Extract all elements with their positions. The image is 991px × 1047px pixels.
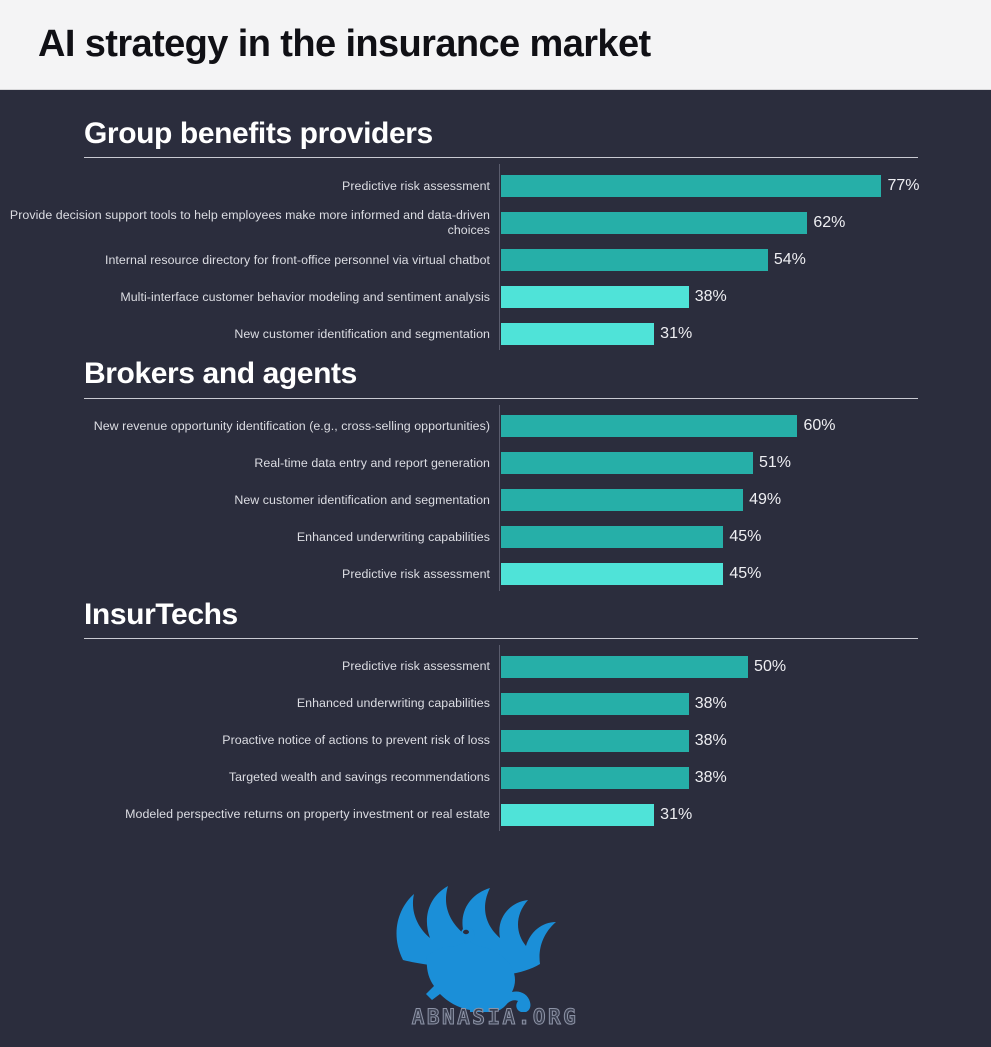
bar-track: 45% [499, 563, 991, 585]
bar-category-label: Targeted wealth and savings recommendati… [0, 770, 499, 785]
griffin-logo-icon [370, 872, 620, 1012]
bar[interactable] [501, 452, 753, 474]
chart-section: Group benefits providersPredictive risk … [0, 118, 991, 352]
bar-value-label: 38% [695, 769, 727, 787]
bar-track: 60% [499, 415, 991, 437]
bar-category-label: Internal resource directory for front-of… [0, 253, 499, 268]
bar[interactable] [501, 693, 689, 715]
bar-row[interactable]: Predictive risk assessment77% [0, 167, 991, 204]
bar[interactable] [501, 526, 723, 548]
bar-category-label: Multi-interface customer behavior modeli… [0, 290, 499, 305]
bar[interactable] [501, 415, 797, 437]
bar-track: 77% [499, 175, 991, 197]
bar-track: 31% [499, 323, 991, 345]
watermark-label: ABNASIA.ORG [370, 1005, 620, 1029]
watermark: ABNASIA.ORG [370, 872, 620, 1047]
bar-track: 50% [499, 656, 991, 678]
value-axis [499, 645, 500, 831]
bar-track: 51% [499, 452, 991, 474]
bar-row[interactable]: New revenue opportunity identification (… [0, 408, 991, 445]
section-title: Brokers and agents [0, 358, 991, 390]
bar-value-label: 77% [887, 177, 919, 195]
bar-track: 38% [499, 286, 991, 308]
bar-value-label: 45% [729, 528, 761, 546]
bar-track: 54% [499, 249, 991, 271]
bar-value-label: 62% [813, 214, 845, 232]
bar-category-label: Predictive risk assessment [0, 179, 499, 194]
bar-category-label: New revenue opportunity identification (… [0, 419, 499, 434]
bar-row[interactable]: Internal resource directory for front-of… [0, 241, 991, 278]
bar-value-label: 54% [774, 251, 806, 269]
bar[interactable] [501, 804, 654, 826]
section-title: InsurTechs [0, 599, 991, 631]
chart-section: Brokers and agentsNew revenue opportunit… [0, 358, 991, 592]
bar-row[interactable]: Predictive risk assessment50% [0, 648, 991, 685]
bar-category-label: Proactive notice of actions to prevent r… [0, 733, 499, 748]
bar[interactable] [501, 323, 654, 345]
section-title: Group benefits providers [0, 118, 991, 150]
bar-row[interactable]: Enhanced underwriting capabilities45% [0, 519, 991, 556]
bar-row[interactable]: New customer identification and segmenta… [0, 315, 991, 352]
bar-track: 31% [499, 804, 991, 826]
bar-row[interactable]: Multi-interface customer behavior modeli… [0, 278, 991, 315]
title-bar: AI strategy in the insurance market [0, 0, 991, 90]
bar[interactable] [501, 286, 689, 308]
bar[interactable] [501, 730, 689, 752]
bar-track: 62% [499, 212, 991, 234]
bar-value-label: 31% [660, 325, 692, 343]
bar-track: 38% [499, 693, 991, 715]
bar-row[interactable]: Modeled perspective returns on property … [0, 796, 991, 833]
bar-value-label: 31% [660, 806, 692, 824]
chart-section: InsurTechsPredictive risk assessment50%E… [0, 599, 991, 833]
bar-plot: Predictive risk assessment50%Enhanced un… [0, 639, 991, 833]
bar-category-label: Enhanced underwriting capabilities [0, 530, 499, 545]
bar-value-label: 38% [695, 732, 727, 750]
bar-track: 38% [499, 767, 991, 789]
bar[interactable] [501, 767, 689, 789]
chart-canvas: Group benefits providersPredictive risk … [0, 90, 991, 965]
bar-row[interactable]: Predictive risk assessment45% [0, 556, 991, 593]
bar-category-label: Real-time data entry and report generati… [0, 456, 499, 471]
value-axis [499, 164, 500, 350]
bar-value-label: 60% [803, 417, 835, 435]
bar-category-label: New customer identification and segmenta… [0, 327, 499, 342]
value-axis [499, 405, 500, 591]
bar[interactable] [501, 563, 723, 585]
bar-category-label: Predictive risk assessment [0, 567, 499, 582]
chart-sections: Group benefits providersPredictive risk … [0, 118, 991, 833]
page-title: AI strategy in the insurance market [38, 23, 651, 66]
bar-value-label: 45% [729, 565, 761, 583]
bar[interactable] [501, 249, 768, 271]
bar-row[interactable]: Provide decision support tools to help e… [0, 204, 991, 241]
bar-value-label: 49% [749, 491, 781, 509]
bar-row[interactable]: Enhanced underwriting capabilities38% [0, 685, 991, 722]
bar-value-label: 50% [754, 658, 786, 676]
bar-row[interactable]: Targeted wealth and savings recommendati… [0, 759, 991, 796]
bar[interactable] [501, 175, 881, 197]
bar-plot: Predictive risk assessment77%Provide dec… [0, 158, 991, 352]
bar-row[interactable]: Proactive notice of actions to prevent r… [0, 722, 991, 759]
bar-category-label: Modeled perspective returns on property … [0, 807, 499, 822]
bar-category-label: Provide decision support tools to help e… [0, 208, 499, 237]
bar[interactable] [501, 489, 743, 511]
bar-category-label: New customer identification and segmenta… [0, 493, 499, 508]
bar[interactable] [501, 656, 748, 678]
bar-value-label: 38% [695, 288, 727, 306]
bar-track: 45% [499, 526, 991, 548]
bar-category-label: Predictive risk assessment [0, 659, 499, 674]
bar-value-label: 38% [695, 695, 727, 713]
bar-track: 49% [499, 489, 991, 511]
bar-plot: New revenue opportunity identification (… [0, 399, 991, 593]
bar-row[interactable]: Real-time data entry and report generati… [0, 445, 991, 482]
bar-category-label: Enhanced underwriting capabilities [0, 696, 499, 711]
bar-row[interactable]: New customer identification and segmenta… [0, 482, 991, 519]
bar-track: 38% [499, 730, 991, 752]
bar[interactable] [501, 212, 807, 234]
bar-value-label: 51% [759, 454, 791, 472]
